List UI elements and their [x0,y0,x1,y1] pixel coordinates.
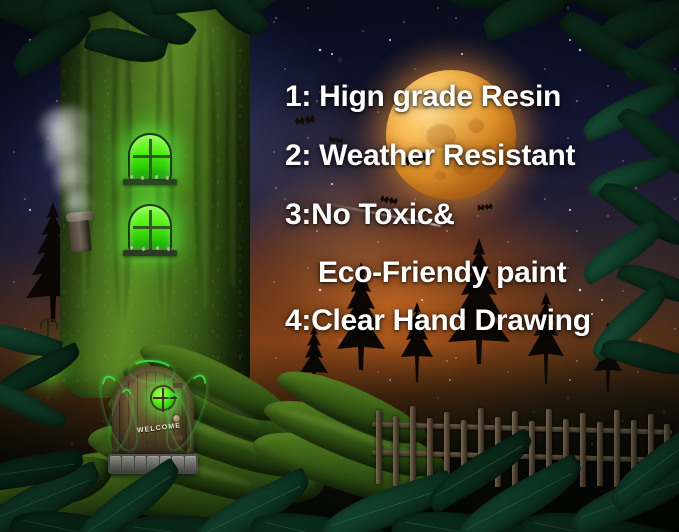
product-feature-image: WELCOME [0,0,679,532]
feature-line-3-continued: Eco-Friendy paint [318,258,566,288]
feature-line-3: 3:No Toxic& [285,200,455,230]
feature-line-2: 2: Weather Resistant [285,141,575,171]
feature-text-overlay: 1: Hign grade Resin 2: Weather Resistant… [0,0,679,532]
feature-line-4: 4:Clear Hand Drawing [285,306,591,336]
feature-line-1: 1: Hign grade Resin [285,82,561,112]
